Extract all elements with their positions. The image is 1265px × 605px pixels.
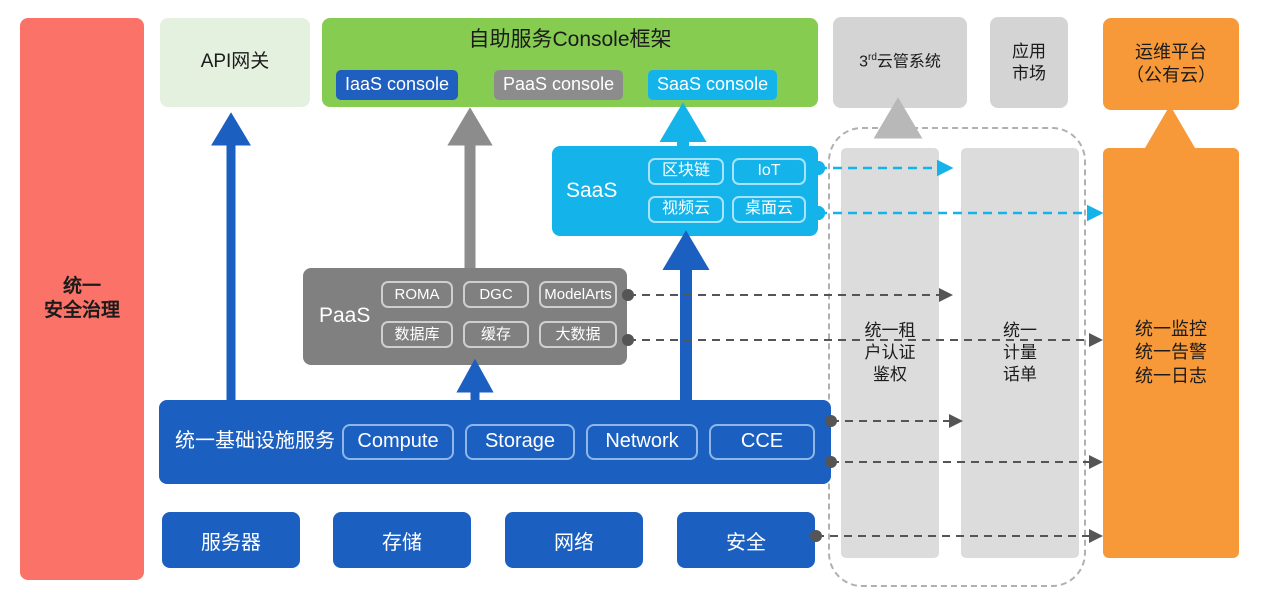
- console-framework-title: 自助服务Console框架: [322, 27, 818, 54]
- resource-box-server-label: 服务器: [201, 526, 261, 555]
- ops-platform-box[interactable]: 运维平台 （公有云）: [1103, 18, 1239, 110]
- resource-box-server[interactable]: 服务器: [162, 512, 300, 568]
- paas-console-chip[interactable]: PaaS console: [494, 70, 623, 100]
- resource-box-storage-label: 存储: [382, 526, 422, 555]
- saas-chip-iot[interactable]: IoT: [732, 158, 806, 185]
- resource-box-network[interactable]: 网络: [505, 512, 643, 568]
- paas-chip-modelarts[interactable]: ModelArts: [539, 281, 617, 308]
- saas-chip-desktop-cloud-label: 桌面云: [745, 199, 793, 219]
- paas-chip-database[interactable]: 数据库: [381, 321, 453, 348]
- saas-chip-blockchain-label: 区块链: [662, 161, 710, 181]
- saas-layer-label: SaaS: [566, 146, 617, 236]
- paas-chip-dgc[interactable]: DGC: [463, 281, 529, 308]
- paas-chip-roma[interactable]: ROMA: [381, 281, 453, 308]
- paas-chip-cache[interactable]: 缓存: [463, 321, 529, 348]
- console-framework-box[interactable]: 自助服务Console框架 IaaS console PaaS console …: [322, 18, 818, 107]
- cloud-mgmt-suffix: 云管系统: [877, 53, 941, 70]
- unified-infrastructure-label: 统一基础设施服务: [175, 400, 335, 484]
- paas-chip-database-label: 数据库: [394, 325, 439, 344]
- paas-layer-box[interactable]: PaaS ROMA DGC ModelArts 数据库 缓存 大数据: [303, 268, 627, 365]
- resource-box-security[interactable]: 安全: [677, 512, 815, 568]
- saas-chip-desktop-cloud[interactable]: 桌面云: [732, 196, 806, 223]
- app-market-label: 应用 市场: [1012, 41, 1046, 85]
- api-gateway-box[interactable]: API网关: [160, 18, 310, 107]
- architecture-diagram: 统一 安全治理 API网关 自助服务Console框架 IaaS console…: [0, 0, 1265, 605]
- paas-console-label: PaaS console: [503, 73, 614, 96]
- unified-infrastructure-bar[interactable]: 统一基础设施服务 Compute Storage Network CCE: [159, 400, 831, 484]
- arrow-infra-to-saas: [673, 242, 699, 400]
- arrow-paas-to-console: [457, 118, 483, 268]
- security-governance-label: 统一 安全治理: [44, 275, 120, 324]
- paas-chip-bigdata-label: 大数据: [555, 325, 600, 344]
- api-gateway-label: API网关: [201, 50, 270, 74]
- saas-chip-blockchain[interactable]: 区块链: [648, 158, 724, 185]
- paas-chip-cache-label: 缓存: [481, 325, 511, 344]
- app-market-box[interactable]: 应用 市场: [990, 17, 1068, 108]
- unified-tenant-auth-column[interactable]: 统一租 户认证 鉴权: [841, 148, 939, 558]
- arrow-saas-to-saas-console: [670, 114, 696, 146]
- unified-metering-label: 统一 计量 话单: [1003, 320, 1037, 386]
- saas-console-label: SaaS console: [657, 73, 768, 96]
- cloud-mgmt-superscript: rd: [868, 52, 877, 63]
- cloud-mgmt-prefix: 3: [859, 53, 868, 70]
- infra-chip-storage-label: Storage: [485, 429, 555, 455]
- infra-chip-compute[interactable]: Compute: [342, 424, 454, 460]
- saas-console-chip[interactable]: SaaS console: [648, 70, 777, 100]
- arrow-ops-stack-to-platform: [1156, 118, 1184, 148]
- infra-chip-compute-label: Compute: [357, 429, 438, 455]
- third-party-cloud-mgmt-label: 3rd云管系统: [859, 52, 941, 73]
- resource-box-security-label: 安全: [726, 526, 766, 555]
- infra-chip-network[interactable]: Network: [586, 424, 698, 460]
- iaas-console-chip[interactable]: IaaS console: [336, 70, 458, 100]
- saas-chip-iot-label: IoT: [757, 161, 780, 181]
- paas-chip-modelarts-label: ModelArts: [544, 285, 612, 304]
- ops-monitoring-panel[interactable]: 统一监控 统一告警 统一日志: [1103, 148, 1239, 558]
- arrow-infra-to-api-gateway: [219, 121, 243, 400]
- ops-monitoring-label: 统一监控 统一告警 统一日志: [1135, 318, 1207, 387]
- unified-metering-column[interactable]: 统一 计量 话单: [961, 148, 1079, 558]
- arrow-infra-to-paas: [464, 368, 486, 400]
- paas-chip-dgc-label: DGC: [479, 285, 512, 304]
- unified-tenant-auth-label: 统一租 户认证 鉴权: [865, 320, 916, 386]
- third-party-cloud-mgmt-box[interactable]: 3rd云管系统: [833, 17, 967, 108]
- resource-box-network-label: 网络: [554, 526, 594, 555]
- paas-chip-roma-label: ROMA: [395, 285, 440, 304]
- infra-chip-network-label: Network: [605, 429, 678, 455]
- infra-chip-storage[interactable]: Storage: [465, 424, 575, 460]
- saas-chip-video-cloud-label: 视频云: [662, 199, 710, 219]
- saas-chip-video-cloud[interactable]: 视频云: [648, 196, 724, 223]
- infra-chip-cce-label: CCE: [741, 429, 783, 455]
- iaas-console-label: IaaS console: [345, 73, 449, 96]
- paas-layer-label: PaaS: [319, 268, 370, 365]
- infra-chip-cce[interactable]: CCE: [709, 424, 815, 460]
- security-governance-panel[interactable]: 统一 安全治理: [20, 18, 144, 580]
- resource-box-storage[interactable]: 存储: [333, 512, 471, 568]
- paas-chip-bigdata[interactable]: 大数据: [539, 321, 617, 348]
- saas-layer-box[interactable]: SaaS 区块链 IoT 视频云 桌面云: [552, 146, 818, 236]
- ops-platform-label: 运维平台 （公有云）: [1126, 41, 1216, 87]
